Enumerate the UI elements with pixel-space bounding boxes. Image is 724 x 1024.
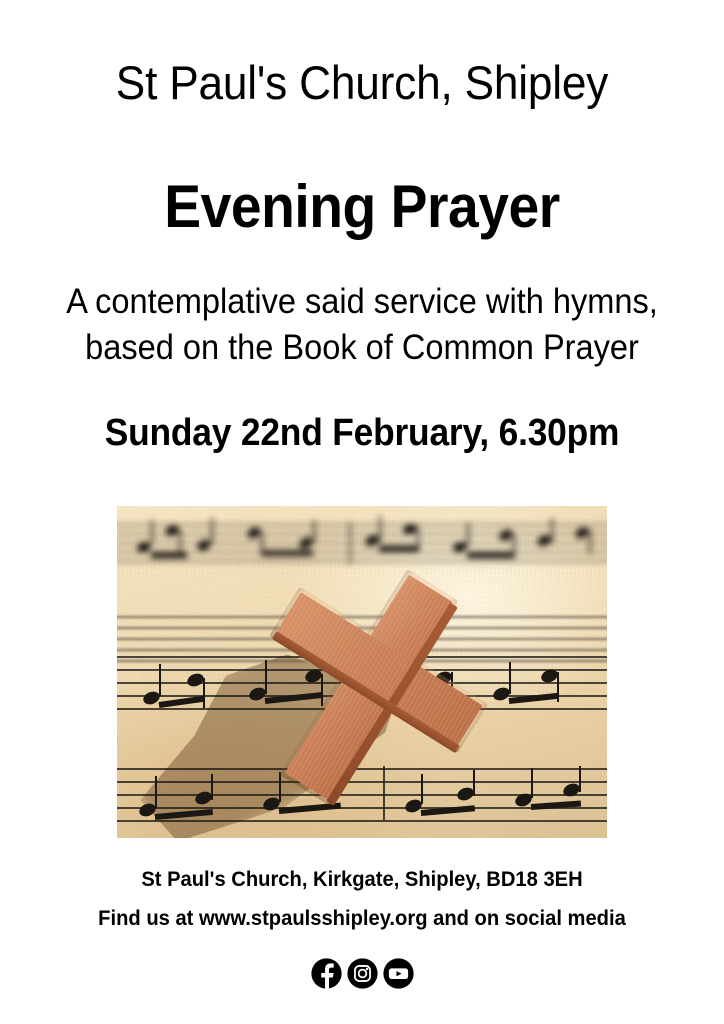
facebook-icon[interactable]	[310, 957, 343, 990]
photo-inner	[117, 506, 607, 838]
note-stem	[379, 516, 381, 542]
note-stem	[551, 518, 553, 542]
note-stem	[211, 774, 213, 800]
note-stem	[155, 776, 157, 808]
social-links-row	[0, 957, 724, 990]
description-line-1: A contemplative said service with hymns,	[25, 279, 698, 325]
note-beam	[159, 696, 205, 708]
note-stem	[151, 520, 153, 544]
note-stem	[203, 678, 205, 708]
church-address: St Paul's Church, Kirkgate, Shipley, BD1…	[14, 867, 709, 892]
service-datetime: Sunday 22nd February, 6.30pm	[25, 412, 698, 455]
note-stem	[211, 518, 213, 544]
note-beam	[151, 552, 187, 558]
note-stem	[473, 770, 475, 796]
event-title-heading: Evening Prayer	[29, 175, 695, 238]
music-note	[574, 526, 591, 541]
note-stem	[531, 768, 533, 798]
music-note	[498, 528, 515, 543]
website-line: Find us at www.stpaulsshipley.org and on…	[14, 906, 709, 931]
music-note	[164, 524, 181, 539]
instagram-icon[interactable]	[346, 957, 379, 990]
note-stem	[589, 530, 591, 554]
church-name-heading: St Paul's Church, Shipley	[22, 58, 703, 108]
description-line-2: based on the Book of Common Prayer	[25, 325, 698, 371]
note-stem	[467, 522, 469, 546]
note-beam	[155, 809, 213, 820]
cross-sheet-music-photo	[117, 506, 607, 838]
note-beam	[467, 552, 515, 558]
event-description: A contemplative said service with hymns,…	[25, 279, 698, 371]
youtube-icon[interactable]	[382, 957, 415, 990]
music-note	[536, 534, 553, 549]
note-stem	[579, 766, 581, 792]
poster-root: St Paul's Church, Shipley Evening Prayer…	[0, 0, 724, 1024]
note-stem	[159, 664, 161, 696]
music-note	[246, 526, 263, 541]
